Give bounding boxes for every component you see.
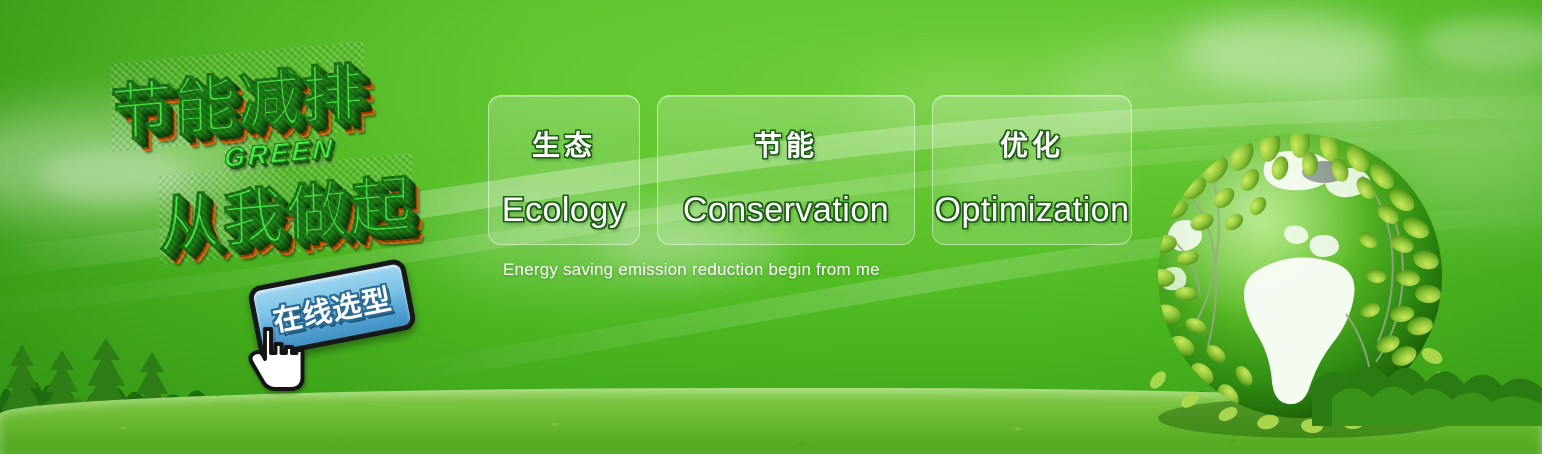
foliage-icon <box>1312 326 1542 426</box>
pointer-hand-icon <box>244 320 316 398</box>
hero-title-artwork: 节能减排 GREEN 从我做起 <box>96 38 496 270</box>
feature-card-cn-label: 生态 <box>532 124 596 164</box>
feature-card-cn-label: 优化 <box>1000 124 1064 164</box>
hero-title-line-2: 从我做起 <box>158 153 415 266</box>
feature-card-ecology[interactable]: 生态 Ecology <box>488 95 640 245</box>
feature-card-en-label: Conservation <box>683 191 889 230</box>
feature-card-en-label: Ecology <box>502 191 626 230</box>
feature-card-cn-label: 节能 <box>754 124 818 164</box>
feature-card-en-label: Optimization <box>935 191 1130 230</box>
feature-card-conservation[interactable]: 节能 Conservation <box>657 95 915 245</box>
feature-card-optimization[interactable]: 优化 Optimization <box>932 95 1132 245</box>
banner-tagline: Energy saving emission reduction begin f… <box>503 260 880 280</box>
eco-banner: 节能减排 GREEN 从我做起 在线选型 生态 Ecology 节能 Conse… <box>0 0 1542 454</box>
feature-card-row: 生态 Ecology 节能 Conservation 优化 Optimizati… <box>488 95 1132 245</box>
